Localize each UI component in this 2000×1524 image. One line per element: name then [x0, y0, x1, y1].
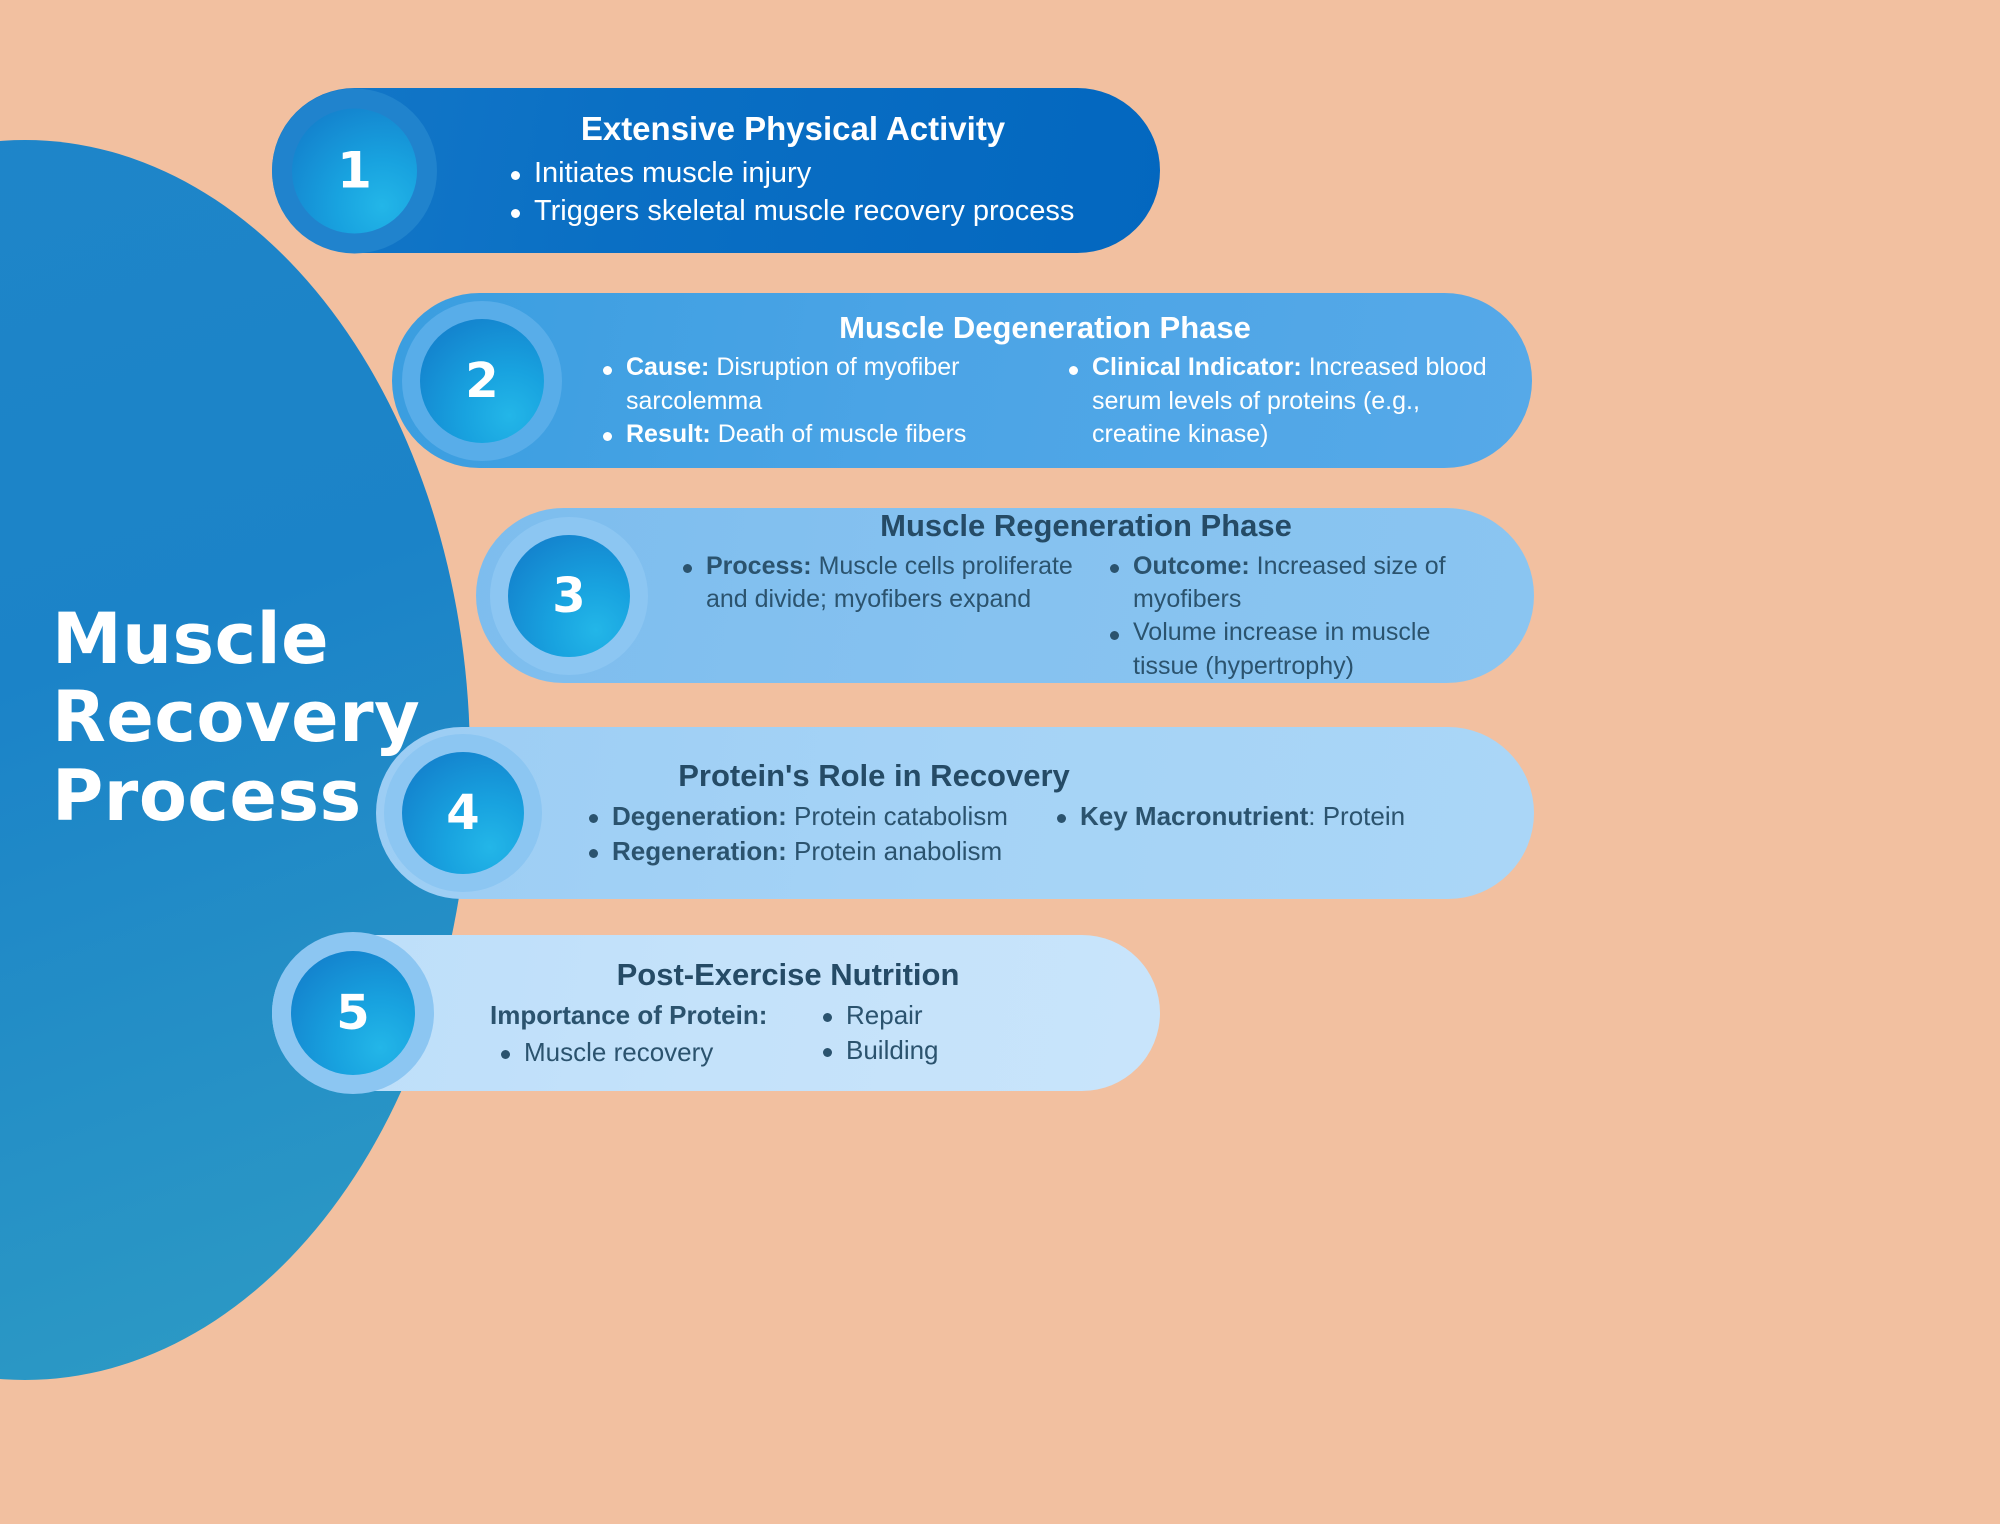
- list-item: Outcome: Increased size of myofibers: [1099, 550, 1500, 617]
- list-item: Key Macronutrient: Protein: [1046, 799, 1500, 834]
- bullet-text: Building: [846, 1035, 939, 1065]
- list-item: Regeneration: Protein anabolism: [578, 834, 1032, 869]
- step-3-body: Process: Muscle cells proliferate and di…: [672, 550, 1500, 683]
- bullet-label: Degeneration:: [612, 801, 787, 831]
- step-2-body: Cause: Disruption of myofiber sarcolemma…: [592, 351, 1498, 451]
- step-2-column-2: Clinical Indicator: Increased blood seru…: [1058, 351, 1498, 451]
- step-5-content: Post-Exercise Nutrition Importance of Pr…: [490, 957, 1126, 1070]
- step-5-subheading: Importance of Protein:: [490, 998, 804, 1033]
- step-3-bullet-list-right: Outcome: Increased size of myofibers Vol…: [1099, 550, 1500, 683]
- bullet-text: Muscle recovery: [524, 1037, 713, 1067]
- step-2-bullet-list-left: Cause: Disruption of myofiber sarcolemma…: [592, 351, 1032, 451]
- step-3-column-2: Outcome: Increased size of myofibers Vol…: [1099, 550, 1500, 683]
- step-1-number: 1: [337, 146, 372, 196]
- step-3-content: Muscle Regeneration Phase Process: Muscl…: [672, 508, 1500, 683]
- bullet-text: : Protein: [1308, 801, 1405, 831]
- bullet-label: Process:: [706, 552, 812, 580]
- step-3-bar: 3 Muscle Regeneration Phase Process: Mus…: [476, 508, 1534, 683]
- step-4-bullet-list-left: Degeneration: Protein catabolism Regener…: [578, 799, 1032, 868]
- step-5-bullet-list-right: Repair Building: [812, 998, 1126, 1067]
- step-3-bullet-list-left: Process: Muscle cells proliferate and di…: [672, 550, 1073, 617]
- step-1-bullet-list: Initiates muscle injury Triggers skeleta…: [490, 154, 1126, 231]
- step-1-body: Initiates muscle injury Triggers skeleta…: [490, 154, 1126, 231]
- step-5-columns: Importance of Protein: Muscle recovery R…: [490, 998, 1126, 1069]
- list-item: Volume increase in muscle tissue (hypert…: [1099, 616, 1500, 683]
- bullet-label: Result:: [626, 420, 711, 448]
- step-row-5[interactable]: 5 Post-Exercise Nutrition Importance of …: [272, 935, 1160, 1091]
- bullet-text: Repair: [846, 1000, 923, 1030]
- list-item: Cause: Disruption of myofiber sarcolemma: [592, 351, 1032, 418]
- step-5-bar: 5 Post-Exercise Nutrition Importance of …: [272, 935, 1160, 1091]
- bullet-text: Initiates muscle injury: [534, 157, 811, 189]
- list-item: Muscle recovery: [490, 1035, 804, 1070]
- list-item: Initiates muscle injury: [500, 154, 1126, 193]
- step-4-bullet-list-right: Key Macronutrient: Protein: [1046, 799, 1500, 834]
- step-4-body: Degeneration: Protein catabolism Regener…: [578, 799, 1500, 868]
- step-5-number-badge: 5: [272, 932, 434, 1094]
- step-2-column-1: Cause: Disruption of myofiber sarcolemma…: [592, 351, 1032, 451]
- step-5-column-2: Repair Building: [812, 998, 1126, 1069]
- step-5-body: Importance of Protein: Muscle recovery R…: [490, 998, 1126, 1069]
- step-3-column-1: Process: Muscle cells proliferate and di…: [672, 550, 1073, 683]
- step-3-columns: Process: Muscle cells proliferate and di…: [672, 550, 1500, 683]
- step-4-column-1: Degeneration: Protein catabolism Regener…: [578, 799, 1032, 868]
- step-2-number-badge: 2: [402, 301, 562, 461]
- step-2-bar: 2 Muscle Degeneration Phase Cause: Disru…: [392, 293, 1532, 468]
- bullet-text: Death of muscle fibers: [718, 420, 967, 448]
- step-1-content: Extensive Physical Activity Initiates mu…: [490, 110, 1126, 231]
- step-3-number: 3: [552, 572, 585, 620]
- list-item: Repair: [812, 998, 1126, 1033]
- step-2-heading: Muscle Degeneration Phase: [592, 310, 1498, 346]
- step-5-heading: Post-Exercise Nutrition: [490, 957, 1126, 993]
- bullet-text: Protein catabolism: [794, 801, 1008, 831]
- list-item: Triggers skeletal muscle recovery proces…: [500, 192, 1126, 231]
- page-title-line-2: Recovery: [52, 678, 472, 756]
- bullet-text: Protein anabolism: [794, 836, 1002, 866]
- step-5-column-1: Importance of Protein: Muscle recovery: [490, 998, 804, 1069]
- list-item: Building: [812, 1033, 1126, 1068]
- step-2-bullet-list-right: Clinical Indicator: Increased blood seru…: [1058, 351, 1498, 451]
- step-3-number-badge: 3: [490, 517, 648, 675]
- step-row-4[interactable]: 4 Protein's Role in Recovery Degeneratio…: [376, 727, 1534, 899]
- bullet-label: Key Macronutrient: [1080, 801, 1308, 831]
- list-item: Result: Death of muscle fibers: [592, 418, 1032, 451]
- bullet-label: Regeneration:: [612, 836, 787, 866]
- step-1-bar: 1 Extensive Physical Activity Initiates …: [272, 88, 1160, 253]
- page-title-line-1: Muscle: [52, 600, 472, 678]
- step-4-column-2: Key Macronutrient: Protein: [1046, 799, 1500, 868]
- page-title: Muscle Recovery Process: [52, 600, 472, 835]
- step-4-columns: Degeneration: Protein catabolism Regener…: [578, 799, 1500, 868]
- list-item: Degeneration: Protein catabolism: [578, 799, 1032, 834]
- step-2-columns: Cause: Disruption of myofiber sarcolemma…: [592, 351, 1498, 451]
- step-1-column-1: Initiates muscle injury Triggers skeleta…: [490, 154, 1126, 231]
- step-row-3[interactable]: 3 Muscle Regeneration Phase Process: Mus…: [476, 508, 1534, 683]
- step-2-number: 2: [465, 357, 498, 405]
- bullet-text: Volume increase in muscle tissue (hypert…: [1133, 618, 1430, 679]
- step-2-content: Muscle Degeneration Phase Cause: Disrupt…: [592, 310, 1498, 451]
- step-3-heading: Muscle Regeneration Phase: [672, 508, 1500, 544]
- list-item: Clinical Indicator: Increased blood seru…: [1058, 351, 1498, 451]
- step-row-2[interactable]: 2 Muscle Degeneration Phase Cause: Disru…: [392, 293, 1532, 468]
- step-1-heading: Extensive Physical Activity: [490, 110, 1126, 148]
- page-title-line-3: Process: [52, 757, 472, 835]
- step-row-1[interactable]: 1 Extensive Physical Activity Initiates …: [272, 88, 1160, 253]
- bullet-label: Outcome:: [1133, 552, 1250, 580]
- bullet-label: Clinical Indicator:: [1092, 353, 1302, 381]
- bullet-text: Triggers skeletal muscle recovery proces…: [534, 195, 1074, 227]
- step-1-number-badge: 1: [272, 88, 437, 253]
- step-5-bullet-list-left: Muscle recovery: [490, 1035, 804, 1070]
- step-4-bar: 4 Protein's Role in Recovery Degeneratio…: [376, 727, 1534, 899]
- step-5-number: 5: [336, 989, 369, 1037]
- bullet-label: Cause:: [626, 353, 709, 381]
- list-item: Process: Muscle cells proliferate and di…: [672, 550, 1073, 617]
- step-4-content: Protein's Role in Recovery Degeneration:…: [578, 758, 1500, 869]
- step-4-heading: Protein's Role in Recovery: [578, 758, 1500, 794]
- step-1-columns: Initiates muscle injury Triggers skeleta…: [490, 154, 1126, 231]
